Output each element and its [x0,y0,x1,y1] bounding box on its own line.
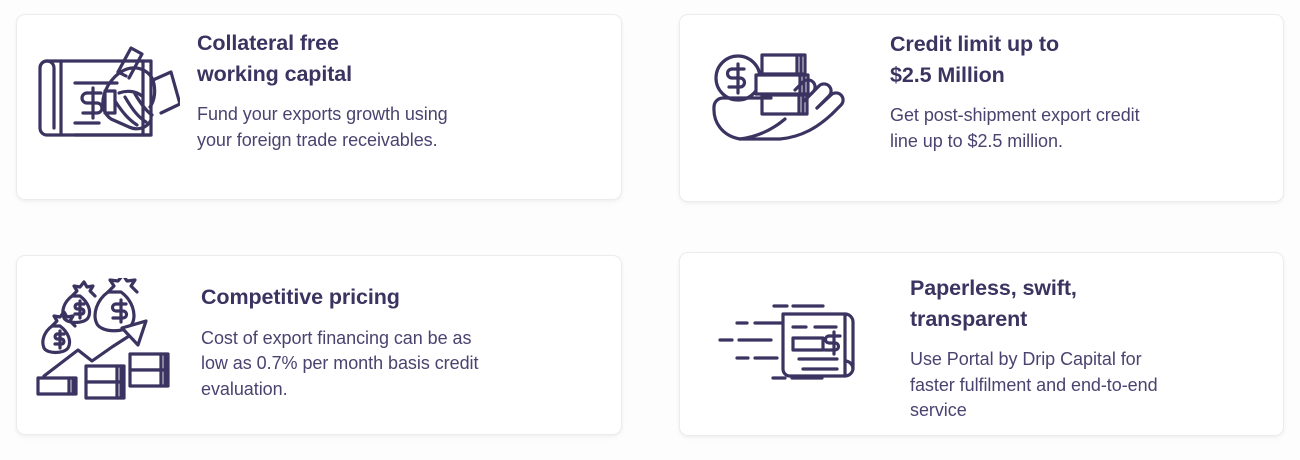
feature-card[interactable]: Competitive pricing Cost of export finan… [16,255,622,435]
card-title: Paperless, swift, transparent [910,273,1265,334]
feature-card[interactable]: Credit limit up to $2.5 Million Get post… [679,14,1284,202]
fast-digital-invoice-icon [715,299,875,391]
hand-writing-cheque-icon [35,31,180,149]
feature-card[interactable]: Paperless, swift, transparent Use Portal… [679,252,1284,436]
card-text-container: Competitive pricing Cost of export finan… [201,256,621,402]
card-title: Credit limit up to $2.5 Million [890,29,1265,90]
card-text-container: Paperless, swift, transparent Use Portal… [910,253,1283,424]
card-icon-container [17,15,197,149]
card-title: Competitive pricing [201,282,603,313]
card-icon-container [17,256,201,400]
card-text-container: Collateral free working capital Fund you… [197,15,621,153]
money-bags-growth-chart-icon [36,278,182,400]
card-description: Fund your exports growth using your fore… [197,102,603,153]
card-icon-container [680,253,910,391]
card-icon-container [680,15,890,145]
card-title: Collateral free working capital [197,28,603,89]
feature-card[interactable]: Collateral free working capital Fund you… [16,14,622,200]
card-description: Get post-shipment export credit line up … [890,103,1265,154]
hand-holding-cash-icon [709,47,861,145]
card-description: Cost of export financing can be as low a… [201,326,603,403]
card-description: Use Portal by Drip Capital for faster fu… [910,347,1265,424]
feature-cards-grid: Collateral free working capital Fund you… [0,0,1300,460]
card-text-container: Credit limit up to $2.5 Million Get post… [890,15,1283,154]
